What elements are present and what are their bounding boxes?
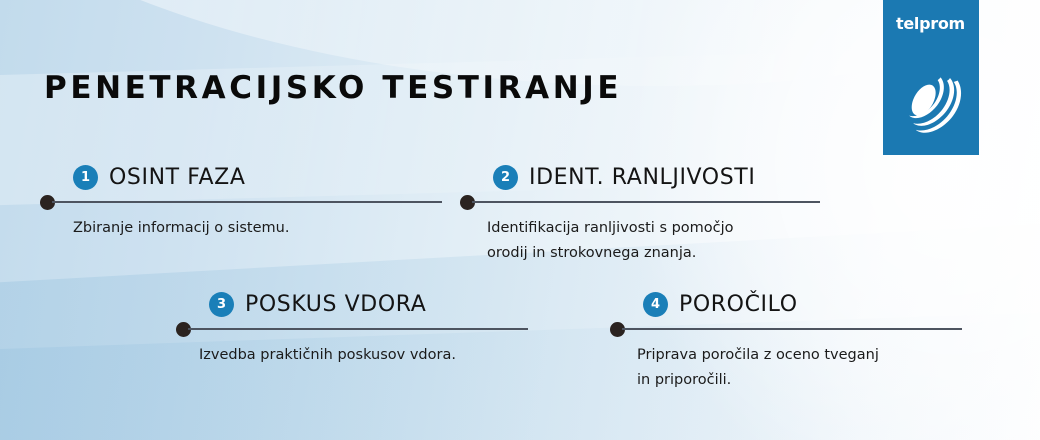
step-header-3: 3 POSKUS VDORA [176, 290, 456, 318]
step-description-3: Izvedba praktičnih poskusov vdora. [199, 343, 456, 368]
step-rule-line-4 [622, 328, 962, 330]
step-rule-1 [40, 194, 289, 210]
step-item-4[interactable]: 4 POROČILO Priprava poročila z oceno tve… [610, 290, 879, 393]
step-number-badge-4: 4 [643, 292, 668, 317]
step-title-3: POSKUS VDORA [245, 292, 426, 317]
step-rule-3 [176, 321, 456, 337]
step-rule-line-3 [188, 328, 528, 330]
step-description-4: Priprava poročila z oceno tveganj in pri… [637, 343, 879, 393]
step-title-2: IDENT. RANLJIVOSTI [529, 165, 755, 190]
page-title: PENETRACIJSKO TESTIRANJE [44, 70, 622, 106]
step-number-badge-2: 2 [493, 165, 518, 190]
logo-wordmark: telprom [896, 14, 965, 33]
step-item-2[interactable]: 2 IDENT. RANLJIVOSTI Identifikacija ranl… [460, 163, 755, 266]
step-header-4: 4 POROČILO [610, 290, 879, 318]
step-title-1: OSINT FAZA [109, 165, 245, 190]
slide-canvas: PENETRACIJSKO TESTIRANJE telprom 1 OSINT… [0, 0, 1040, 440]
step-header-2: 2 IDENT. RANLJIVOSTI [460, 163, 755, 191]
step-rule-2 [460, 194, 755, 210]
swirl-spiral-icon [895, 64, 967, 146]
step-rule-line-2 [472, 201, 820, 203]
step-description-2: Identifikacija ranljivosti s pomočjo oro… [487, 216, 755, 266]
step-item-3[interactable]: 3 POSKUS VDORA Izvedba praktičnih poskus… [176, 290, 456, 368]
step-number-badge-3: 3 [209, 292, 234, 317]
step-description-1: Zbiranje informacij o sistemu. [73, 216, 289, 241]
step-header-1: 1 OSINT FAZA [40, 163, 289, 191]
company-logo: telprom [883, 0, 979, 155]
step-number-badge-1: 1 [73, 165, 98, 190]
step-item-1[interactable]: 1 OSINT FAZA Zbiranje informacij o siste… [40, 163, 289, 241]
step-rule-4 [610, 321, 879, 337]
step-rule-line-1 [52, 201, 442, 203]
step-title-4: POROČILO [679, 292, 798, 317]
